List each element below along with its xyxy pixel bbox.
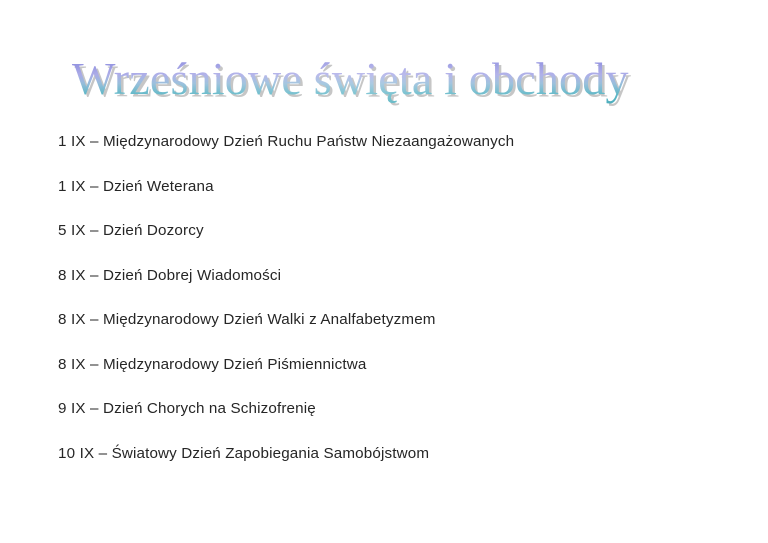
list-item: 9 IX – Dzień Chorych na Schizofrenię	[58, 399, 718, 444]
wordart-title-graphic: Wrześniowe święta i obchody Wrześniowe ś…	[0, 47, 768, 115]
list-item: 8 IX – Dzień Dobrej Wiadomości	[58, 266, 718, 311]
list-item: 1 IX – Dzień Weterana	[58, 177, 718, 222]
document-page: Wrześniowe święta i obchody Wrześniowe ś…	[0, 0, 768, 543]
title-highlight-overlay	[0, 47, 768, 115]
list-item: 8 IX – Międzynarodowy Dzień Piśmiennictw…	[58, 355, 718, 400]
list-item: 1 IX – Międzynarodowy Dzień Ruchu Państw…	[58, 132, 718, 177]
list-item: 5 IX – Dzień Dozorcy	[58, 221, 718, 266]
list-item: 10 IX – Światowy Dzień Zapobiegania Samo…	[58, 444, 718, 489]
holiday-list: 1 IX – Międzynarodowy Dzień Ruchu Państw…	[58, 132, 718, 488]
page-title: Wrześniowe święta i obchody Wrześniowe ś…	[0, 47, 768, 115]
list-item: 8 IX – Międzynarodowy Dzień Walki z Anal…	[58, 310, 718, 355]
